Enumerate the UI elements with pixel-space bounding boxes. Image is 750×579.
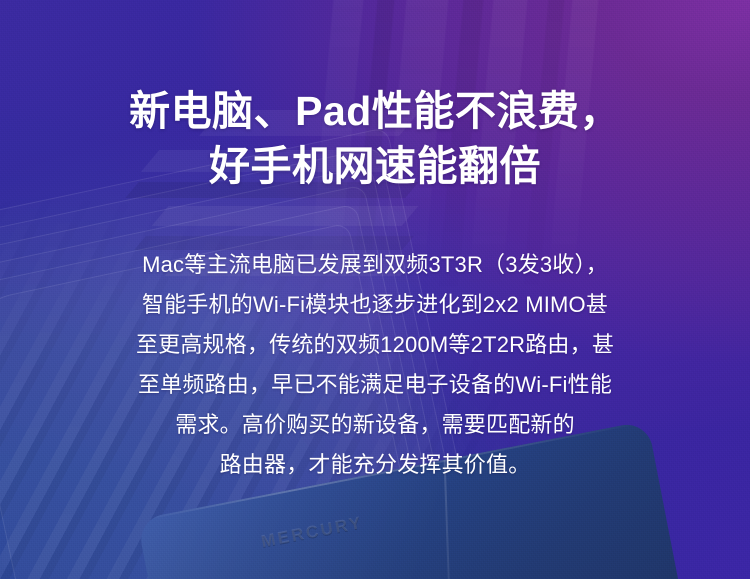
headline: 新电脑、Pad性能不浪费， 好手机网速能翻倍 [0,84,750,194]
headline-line-1: 新电脑、Pad性能不浪费， [0,84,750,139]
paragraph-line-1: Mac等主流电脑已发展到双频3T3R（3发3收）， [0,245,750,285]
paragraph-line-4: 至单频路由，早已不能满足电子设备的Wi-Fi性能 [0,365,750,405]
paragraph-line-6: 路由器，才能充分发挥其价值。 [0,445,750,485]
body-paragraph: Mac等主流电脑已发展到双频3T3R（3发3收）， 智能手机的Wi-Fi模块也逐… [0,245,750,485]
paragraph-line-3: 至更高规格，传统的双频1200M等2T2R路由，甚 [0,325,750,365]
headline-line-2: 好手机网速能翻倍 [0,139,750,194]
paragraph-line-2: 智能手机的Wi-Fi模块也逐步进化到2x2 MIMO甚 [0,285,750,325]
banner-content: 新电脑、Pad性能不浪费， 好手机网速能翻倍 Mac等主流电脑已发展到双频3T3… [0,0,750,579]
promo-banner: MERCURY 新电脑、Pad性能不浪费， 好手机网速能翻倍 Mac等主流电脑已… [0,0,750,579]
paragraph-line-5: 需求。高价购买的新设备，需要匹配新的 [0,405,750,445]
